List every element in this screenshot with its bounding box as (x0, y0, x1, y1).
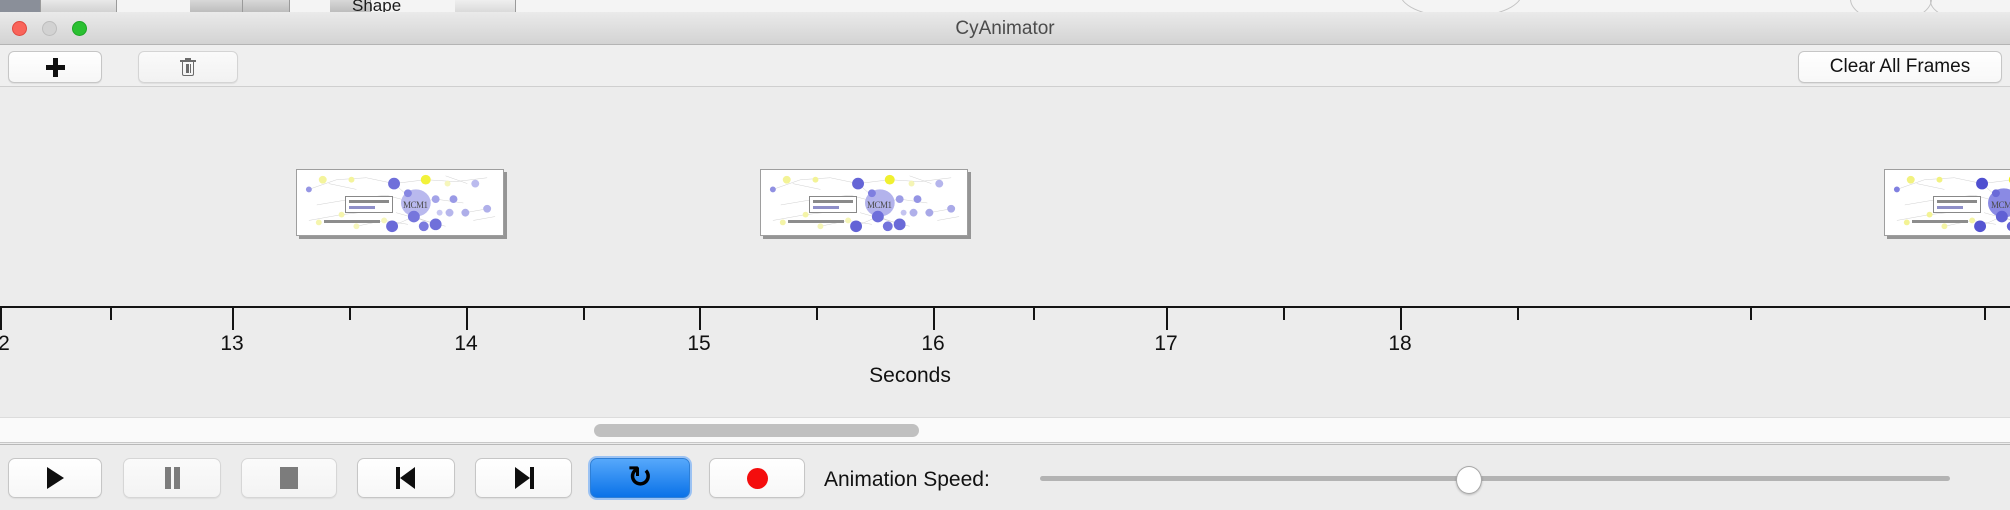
axis-title-seconds: Seconds (869, 364, 951, 388)
play-icon (47, 467, 64, 489)
timeline-ruler: 2 13 14 15 16 17 18 Seconds (0, 306, 2010, 366)
cyanimator-window: Shape CyAnimator Clear All Frames (0, 0, 2010, 510)
clear-all-frames-button[interactable]: Clear All Frames (1798, 51, 2002, 83)
frame-2-tooltip (809, 196, 857, 213)
tick-label-16: 16 (921, 332, 944, 356)
frame-thumbnail-3[interactable]: MCM1 (1884, 169, 2010, 236)
record-button[interactable] (709, 458, 805, 498)
frame-1-tooltip (345, 196, 393, 213)
playback-controls: ↻ Animation Speed: (0, 444, 2010, 510)
stop-button[interactable] (241, 458, 337, 498)
plus-icon (46, 58, 65, 77)
pause-icon (164, 467, 181, 489)
tick-label-12: 2 (0, 332, 10, 356)
timeline-track[interactable]: MCM1 (0, 87, 2010, 327)
add-frame-button[interactable] (8, 51, 102, 83)
play-button[interactable] (8, 458, 102, 498)
delete-frame-button[interactable] (138, 51, 238, 83)
tick-label-15: 15 (687, 332, 710, 356)
loop-button[interactable]: ↻ (590, 458, 690, 498)
tick-label-18: 18 (1388, 332, 1411, 356)
frame-3-caption (1912, 220, 1968, 223)
tick-label-13: 13 (220, 332, 243, 356)
frame-1-center-label: MCM1 (403, 200, 428, 210)
skip-next-icon (514, 467, 534, 489)
frame-2-caption (788, 220, 844, 223)
pause-button[interactable] (123, 458, 221, 498)
frame-2-center-label: MCM1 (867, 200, 892, 210)
network-graph-1 (297, 170, 503, 235)
animation-speed-slider[interactable] (1040, 458, 1950, 498)
frame-thumbnail-2[interactable]: MCM1 (760, 169, 968, 236)
tick-label-17: 17 (1154, 332, 1177, 356)
slider-track[interactable] (1040, 476, 1950, 481)
next-frame-button[interactable] (475, 458, 572, 498)
title-bar: CyAnimator (0, 12, 2010, 45)
timeline-scrollbar[interactable] (0, 417, 2010, 443)
skip-previous-icon (396, 467, 416, 489)
network-graph-2 (761, 170, 967, 235)
frame-3-center-label: MCM1 (1991, 200, 2010, 210)
toolbar: Clear All Frames (0, 45, 2010, 87)
frame-thumbnail-1[interactable]: MCM1 (296, 169, 504, 236)
timeline-scrollbar-thumb[interactable] (594, 424, 919, 437)
stop-icon (280, 467, 298, 489)
slider-knob[interactable] (1456, 466, 1482, 494)
frame-1-caption (324, 220, 380, 223)
window-title: CyAnimator (0, 12, 2010, 45)
previous-frame-button[interactable] (357, 458, 455, 498)
frame-3-tooltip (1933, 196, 1981, 213)
trash-icon (180, 58, 196, 77)
record-icon (747, 468, 768, 489)
tick-label-14: 14 (454, 332, 477, 356)
loop-icon: ↻ (627, 463, 652, 493)
animation-speed-label: Animation Speed: (824, 468, 990, 492)
